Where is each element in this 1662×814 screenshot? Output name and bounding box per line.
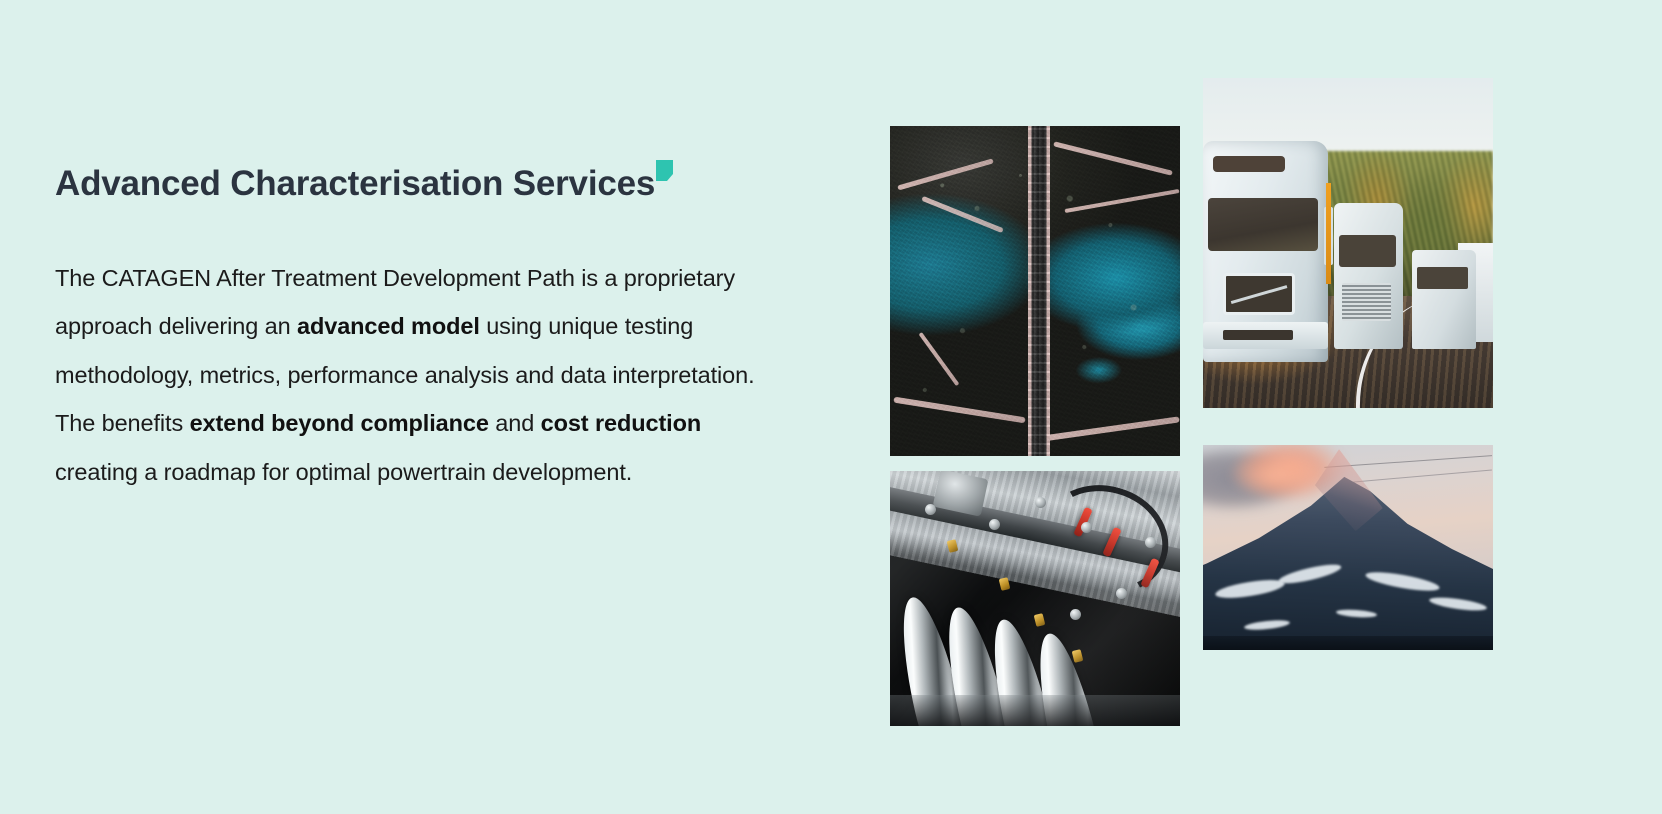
truck-second xyxy=(1334,203,1404,348)
trucks-scene xyxy=(1203,78,1493,408)
body-segment-3-bold: extend beyond compliance xyxy=(190,410,489,436)
truck-lead xyxy=(1203,141,1328,362)
body-segment-4: and xyxy=(489,410,541,436)
body-segment-1-bold: advanced model xyxy=(297,313,480,339)
engine-scene xyxy=(890,471,1180,726)
gallery-image-mountain-peak xyxy=(1203,445,1493,650)
bolt xyxy=(925,504,936,515)
bumper xyxy=(1203,322,1328,349)
text-column: Advanced Characterisation Services The C… xyxy=(55,160,795,496)
teal-flag-accent-icon xyxy=(656,160,673,181)
grille xyxy=(1342,283,1391,321)
bolt xyxy=(1070,609,1081,620)
sunset-cloud-highlight xyxy=(1226,453,1325,498)
windshield xyxy=(1339,235,1396,267)
amber-stripe xyxy=(1326,183,1331,285)
gallery-image-trucks-on-road xyxy=(1203,78,1493,408)
sun-visor xyxy=(1213,156,1285,171)
gallery-image-engine-closeup xyxy=(890,471,1180,726)
grille xyxy=(1223,273,1295,315)
aerial-scene xyxy=(890,126,1180,456)
image-gallery xyxy=(890,78,1505,728)
engine-tray xyxy=(890,695,1180,726)
body-paragraph: The CATAGEN After Treatment Development … xyxy=(55,254,790,497)
truck-third xyxy=(1412,250,1476,349)
page-root: Advanced Characterisation Services The C… xyxy=(0,0,1662,814)
bolt xyxy=(989,519,1000,530)
heading-wrapper: Advanced Characterisation Services xyxy=(55,160,673,206)
windshield xyxy=(1208,198,1318,251)
aerial-texture xyxy=(890,126,1180,456)
mountain-scene xyxy=(1203,445,1493,650)
gallery-image-aerial-view xyxy=(890,126,1180,456)
body-segment-6: creating a roadmap for optimal powertrai… xyxy=(55,459,632,485)
foreground-ridge xyxy=(1203,636,1493,650)
windshield xyxy=(1417,267,1468,289)
bolt xyxy=(1035,497,1046,508)
body-segment-5-bold: cost reduction xyxy=(541,410,702,436)
page-title: Advanced Characterisation Services xyxy=(55,164,655,203)
